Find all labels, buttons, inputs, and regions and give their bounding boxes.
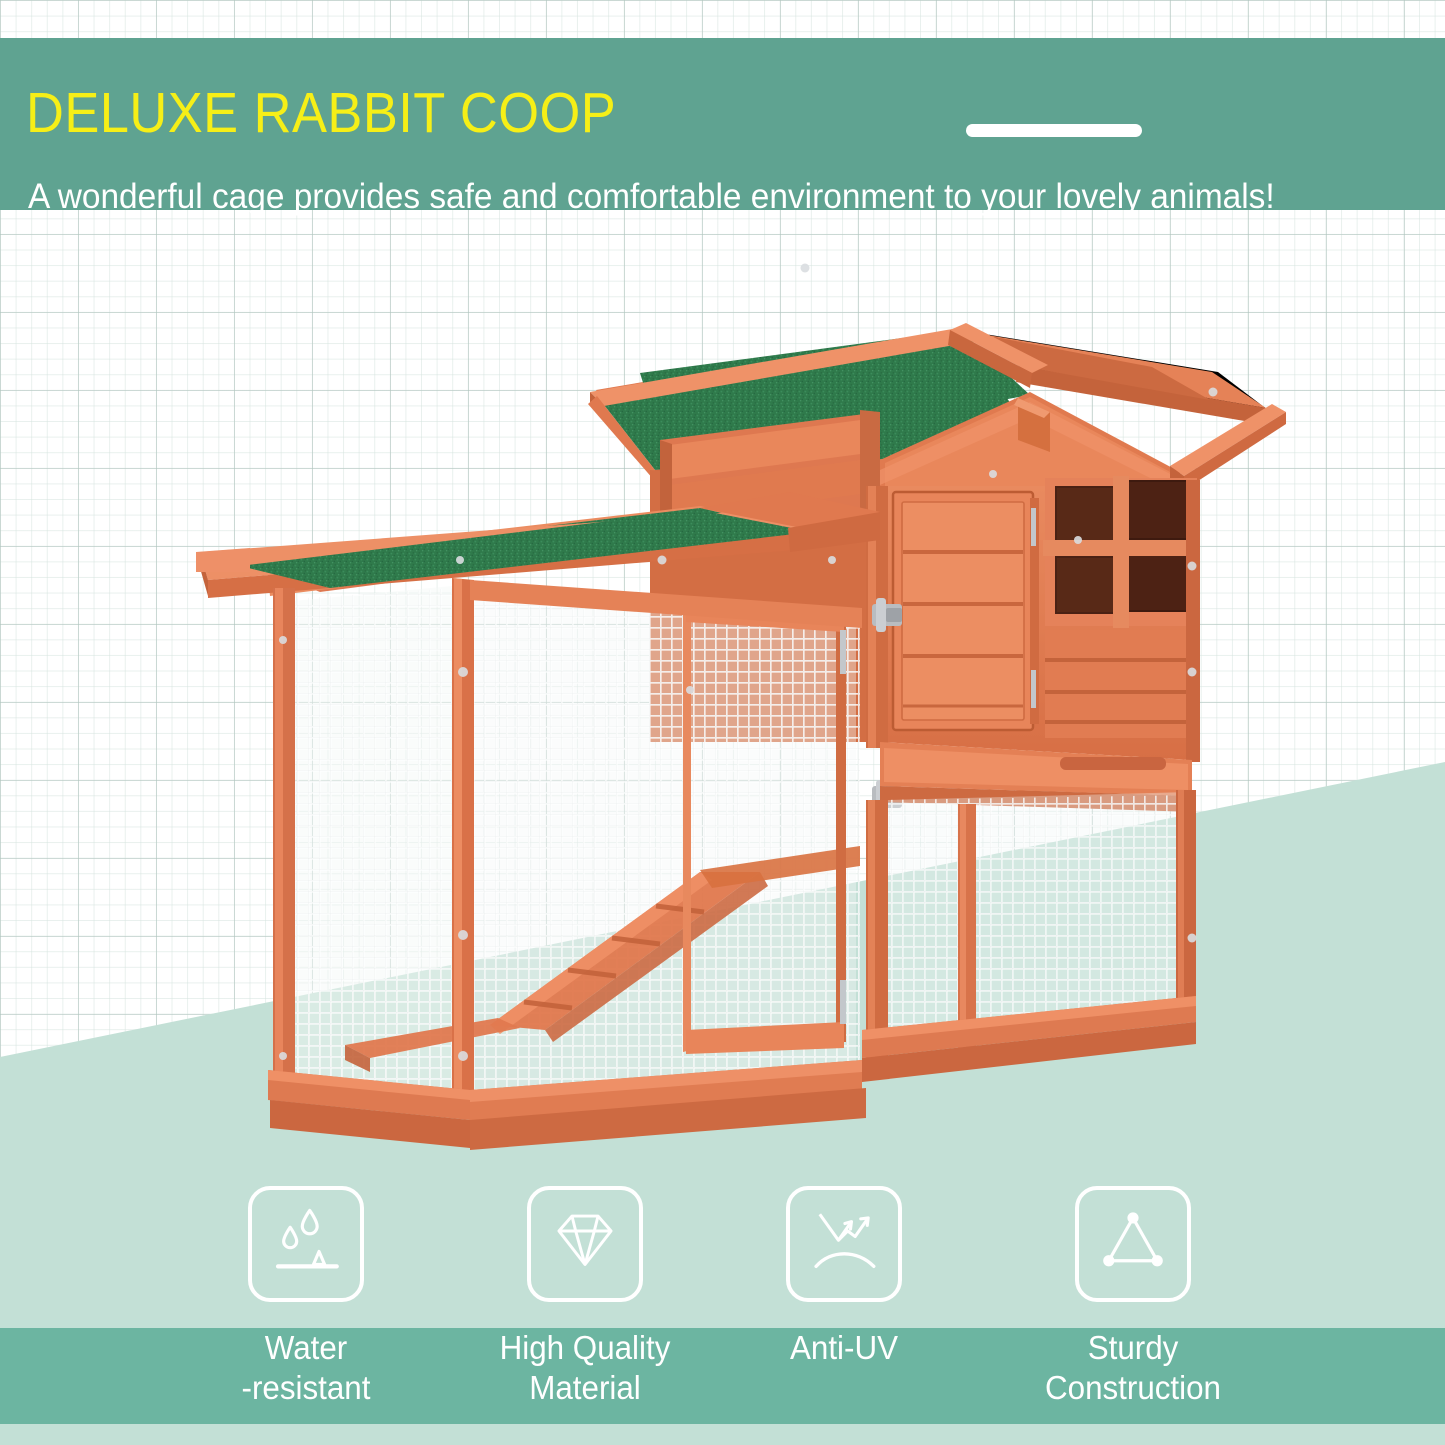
feature-item-sturdy-construction[interactable]: Sturdy Construction <box>1003 1186 1263 1445</box>
horizontal-dash-icon <box>966 124 1142 137</box>
marketing-image-canvas: Water -resistant High Quality Material <box>0 0 1445 1445</box>
diamond-icon <box>527 1186 643 1302</box>
feature-list: Water -resistant High Quality Material <box>0 1186 1445 1445</box>
feature-label-water-resistant: Water -resistant <box>183 1328 430 1408</box>
header-banner: DELUXE RABBIT COOP A wonderful cage prov… <box>0 38 1445 210</box>
page-title: DELUXE RABBIT COOP <box>26 85 616 142</box>
anti-uv-icon <box>786 1186 902 1302</box>
feature-item-high-quality-material[interactable]: High Quality Material <box>455 1186 715 1445</box>
feature-label-high-quality-material: High Quality Material <box>462 1328 709 1408</box>
feature-item-anti-uv[interactable]: Anti-UV <box>714 1186 974 1445</box>
water-drop-icon <box>248 1186 364 1302</box>
feature-label-anti-uv: Anti-UV <box>721 1328 968 1368</box>
page-subtitle: A wonderful cage provides safe and comfo… <box>28 178 1275 216</box>
triangle-construction-icon <box>1075 1186 1191 1302</box>
feature-item-water-resistant[interactable]: Water -resistant <box>176 1186 436 1445</box>
feature-label-sturdy-construction: Sturdy Construction <box>1010 1328 1257 1408</box>
